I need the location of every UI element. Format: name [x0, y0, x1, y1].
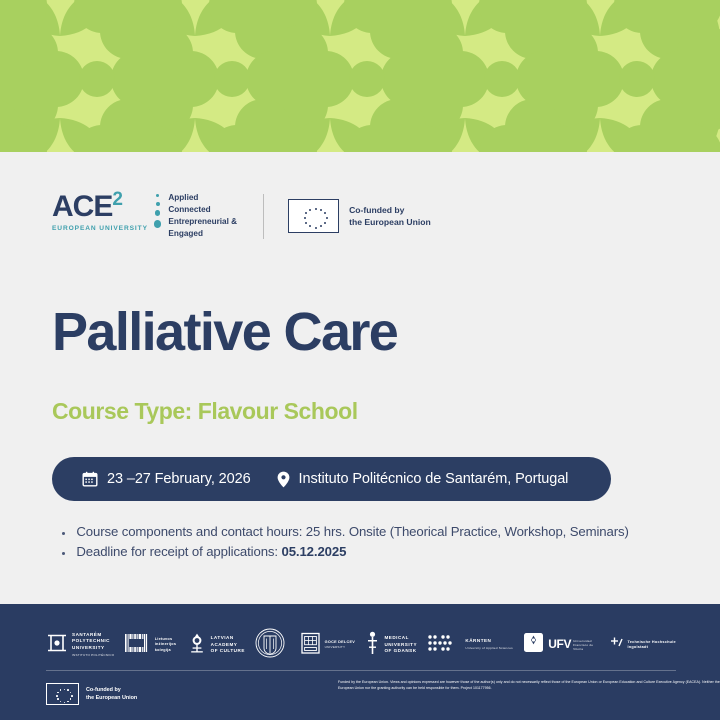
bullet-dot-icon — [62, 532, 65, 535]
karnten-dots-icon — [427, 632, 461, 659]
map-pin-icon — [277, 471, 290, 488]
partner-name: LATVIAN ACADEMY OF CULTURE — [211, 635, 245, 655]
location-segment: Instituto Politécnico de Santarém, Portu… — [277, 471, 569, 488]
ace-tagline: Applied Connected Entrepreneurial & Enga… — [168, 192, 237, 240]
eu-funding-disclaimer: Funded by the European Union. Views and … — [338, 679, 720, 691]
university-seal-icon — [255, 628, 285, 663]
event-dates: 23 –27 February, 2026 — [107, 471, 251, 487]
calendar-icon — [82, 471, 98, 487]
partner-logo-latvian-academy: LATVIAN ACADEMY OF CULTURE — [187, 632, 245, 659]
tagline-line-1: Applied — [168, 192, 237, 204]
floral-pattern-svg — [0, 0, 720, 152]
partner-line-1: GOCE DELCEV — [325, 640, 355, 644]
latvian-academy-mark-icon — [187, 632, 207, 659]
partner-logo-thi: Technische Hochschule Ingolstadt — [609, 635, 675, 656]
partner-line-1: UFV — [548, 637, 571, 651]
eu-flag-icon-small — [46, 683, 79, 705]
tagline-line-4: Engaged — [168, 228, 237, 240]
bullet-text-main: Course components and contact hours: 25 … — [76, 524, 628, 539]
ace-superscript-2: 2 — [112, 190, 122, 209]
thi-mark-icon — [609, 635, 623, 656]
bullet-dot-icon — [62, 552, 65, 555]
bullet-text-main: Deadline for receipt of applications: — [76, 544, 281, 559]
partner-name: SANTARÉM POLYTECHNIC UNIVERSITY INSTITUT… — [72, 632, 114, 658]
partner-logo-ufv: UFVUniversidad Francisco de Vitoria — [523, 632, 599, 658]
footer-eu-cofunded-text: Co-funded by the European Union — [86, 686, 137, 702]
partner-line-1: Lietuvos — [155, 637, 173, 641]
partner-logo-seal — [255, 628, 289, 663]
lietuvos-mark-icon — [125, 632, 151, 659]
date-segment: 23 –27 February, 2026 — [82, 471, 251, 487]
ufv-mark-icon — [523, 632, 544, 658]
course-type-label: Course Type: Flavour School — [52, 398, 358, 425]
partner-line-2: UNIVERSITY — [384, 642, 417, 647]
partner-line-1: LATVIAN — [211, 635, 234, 640]
footer-bottom-row: Co-funded by the European Union Funded b… — [46, 678, 676, 710]
partner-line-3: OF GDANSK — [384, 648, 416, 653]
ace2-wordmark: ACE2 EUROPEAN UNIVERSITY — [52, 192, 148, 232]
partner-name: MEDICAL UNIVERSITY OF GDANSK — [384, 635, 417, 655]
partner-sub: INSTITUTO POLITÉCNICO — [72, 653, 114, 657]
partner-line-2: ACADEMY — [211, 642, 238, 647]
header-logo-row: ACE2 EUROPEAN UNIVERSITY Applied Connect… — [52, 190, 672, 242]
footer: SANTARÉM POLYTECHNIC UNIVERSITY INSTITUT… — [0, 604, 720, 720]
partner-line-3: UNIVERSITY — [72, 645, 105, 650]
footer-divider — [46, 670, 676, 671]
partner-logo-karnten: KÄRNTEN University of Applied Sciences — [427, 632, 512, 659]
partner-name: Lietuvos inžinerijos kolegija — [155, 637, 177, 653]
partner-name: GOCE DELCEV UNIVERSITY — [325, 640, 355, 651]
footer-eu-line-2: the European Union — [86, 694, 137, 702]
partner-logo-goce-delcev: GOCE DELCEV UNIVERSITY — [300, 631, 355, 660]
bullet-text: Deadline for receipt of applications: 05… — [76, 544, 346, 559]
ace-word: ACE2 — [52, 192, 148, 222]
vertical-divider — [263, 194, 264, 239]
ace-dots-decoration — [154, 192, 162, 228]
partner-line-1: MEDICAL — [384, 635, 408, 640]
list-item: Course components and contact hours: 25 … — [62, 524, 702, 539]
goce-delcev-mark-icon — [300, 631, 321, 660]
tagline-line-3: Entrepreneurial & — [168, 216, 237, 228]
eu-cofunded-line-1: Co-funded by — [349, 204, 431, 216]
partner-logo-medical-gdansk: MEDICAL UNIVERSITY OF GDANSK — [365, 631, 417, 660]
decorative-banner — [0, 0, 720, 152]
partner-name: UFVUniversidad Francisco de Vitoria — [548, 636, 599, 653]
ace-subtitle: EUROPEAN UNIVERSITY — [52, 225, 148, 232]
partner-line-2: POLYTECHNIC — [72, 638, 110, 643]
bullet-text: Course components and contact hours: 25 … — [76, 524, 628, 539]
partner-line-3: kolegija — [155, 648, 171, 652]
footer-eu-line-1: Co-funded by — [86, 686, 137, 694]
application-deadline-date: 05.12.2025 — [282, 544, 347, 559]
partner-name: KÄRNTEN University of Applied Sciences — [465, 638, 512, 651]
course-details-list: Course components and contact hours: 25 … — [62, 524, 702, 564]
eu-flag-icon — [288, 199, 339, 233]
tagline-line-2: Connected — [168, 204, 237, 216]
partner-logo-santarem: SANTARÉM POLYTECHNIC UNIVERSITY INSTITUT… — [46, 632, 114, 659]
eu-cofunded-line-2: the European Union — [349, 216, 431, 228]
eu-cofunded-text: Co-funded by the European Union — [349, 204, 431, 229]
partner-line-1: Technische Hochschule — [627, 640, 675, 644]
date-location-bar: 23 –27 February, 2026 Instituto Politécn… — [52, 457, 611, 501]
event-location: Instituto Politécnico de Santarém, Portu… — [299, 471, 569, 487]
partner-logo-lietuvos: Lietuvos inžinerijos kolegija — [125, 632, 177, 659]
partner-sub: UNIVERSITY — [325, 645, 346, 649]
list-item: Deadline for receipt of applications: 05… — [62, 544, 702, 559]
partner-line-2: inžinerijos — [155, 642, 177, 646]
partner-name: Technische Hochschule Ingolstadt — [627, 640, 675, 651]
partner-sub: Ingolstadt — [627, 645, 648, 649]
partner-logos-row: SANTARÉM POLYTECHNIC UNIVERSITY INSTITUT… — [46, 628, 676, 662]
page-title: Palliative Care — [52, 305, 397, 359]
ace-letters: ACE — [52, 192, 112, 222]
partner-sub: Universidad Francisco de Vitoria — [573, 639, 599, 652]
eu-cofunded-logo: Co-funded by the European Union — [288, 199, 431, 233]
partner-line-1: SANTARÉM — [72, 632, 102, 637]
santarem-mark-icon — [46, 632, 68, 659]
ace2-logo: ACE2 EUROPEAN UNIVERSITY Applied Connect… — [52, 192, 237, 240]
gdansk-mark-icon — [365, 631, 380, 660]
partner-line-1: KÄRNTEN — [465, 638, 491, 643]
partner-line-3: OF CULTURE — [211, 648, 245, 653]
partner-sub: University of Applied Sciences — [465, 646, 512, 650]
